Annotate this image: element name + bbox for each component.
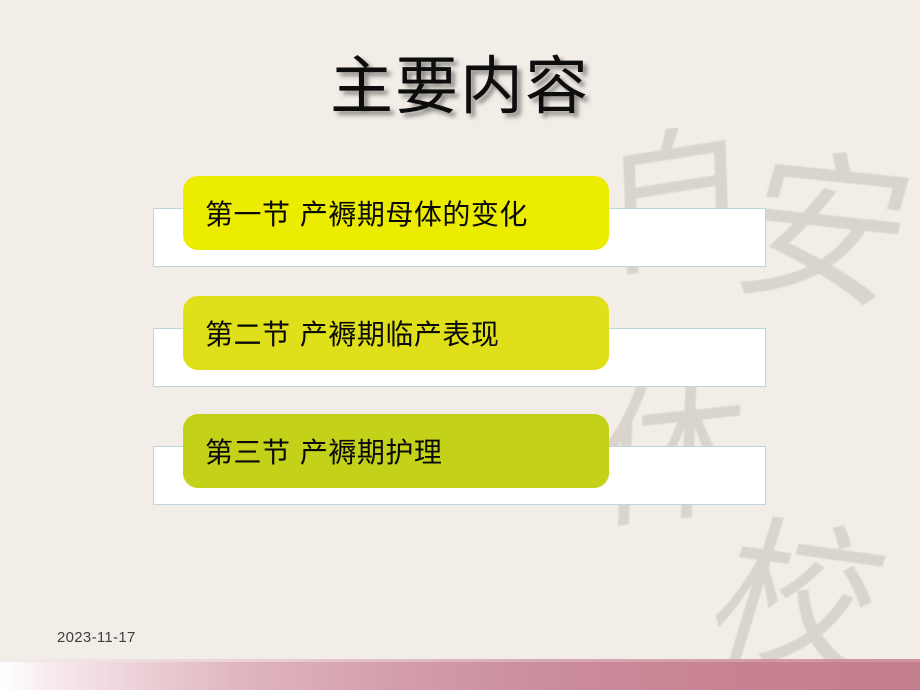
footer-date: 2023-11-17 <box>57 629 136 646</box>
agenda-item-3-chip[interactable]: 第三节 产褥期护理 <box>183 414 609 488</box>
agenda-item-2[interactable]: 第二节 产褥期临产表现 <box>153 296 768 388</box>
agenda-item-1-chip[interactable]: 第一节 产褥期母体的变化 <box>183 176 609 250</box>
bottom-decorative-band <box>0 662 920 690</box>
presentation-slide: 自 安 体 校 主要内容 第一节 产褥期母体的变化 第二节 产褥期临产表现 第三… <box>0 0 920 690</box>
agenda-item-2-chip[interactable]: 第二节 产褥期临产表现 <box>183 296 609 370</box>
slide-title-text: 主要内容 <box>330 50 590 123</box>
agenda-item-1[interactable]: 第一节 产褥期母体的变化 <box>153 176 768 268</box>
agenda-item-2-label: 第二节 产褥期临产表现 <box>205 313 499 353</box>
agenda-item-1-label: 第一节 产褥期母体的变化 <box>205 193 528 233</box>
slide-title: 主要内容 <box>0 36 920 127</box>
agenda-item-3-label: 第三节 产褥期护理 <box>205 431 442 471</box>
agenda-item-3[interactable]: 第三节 产褥期护理 <box>153 414 768 506</box>
